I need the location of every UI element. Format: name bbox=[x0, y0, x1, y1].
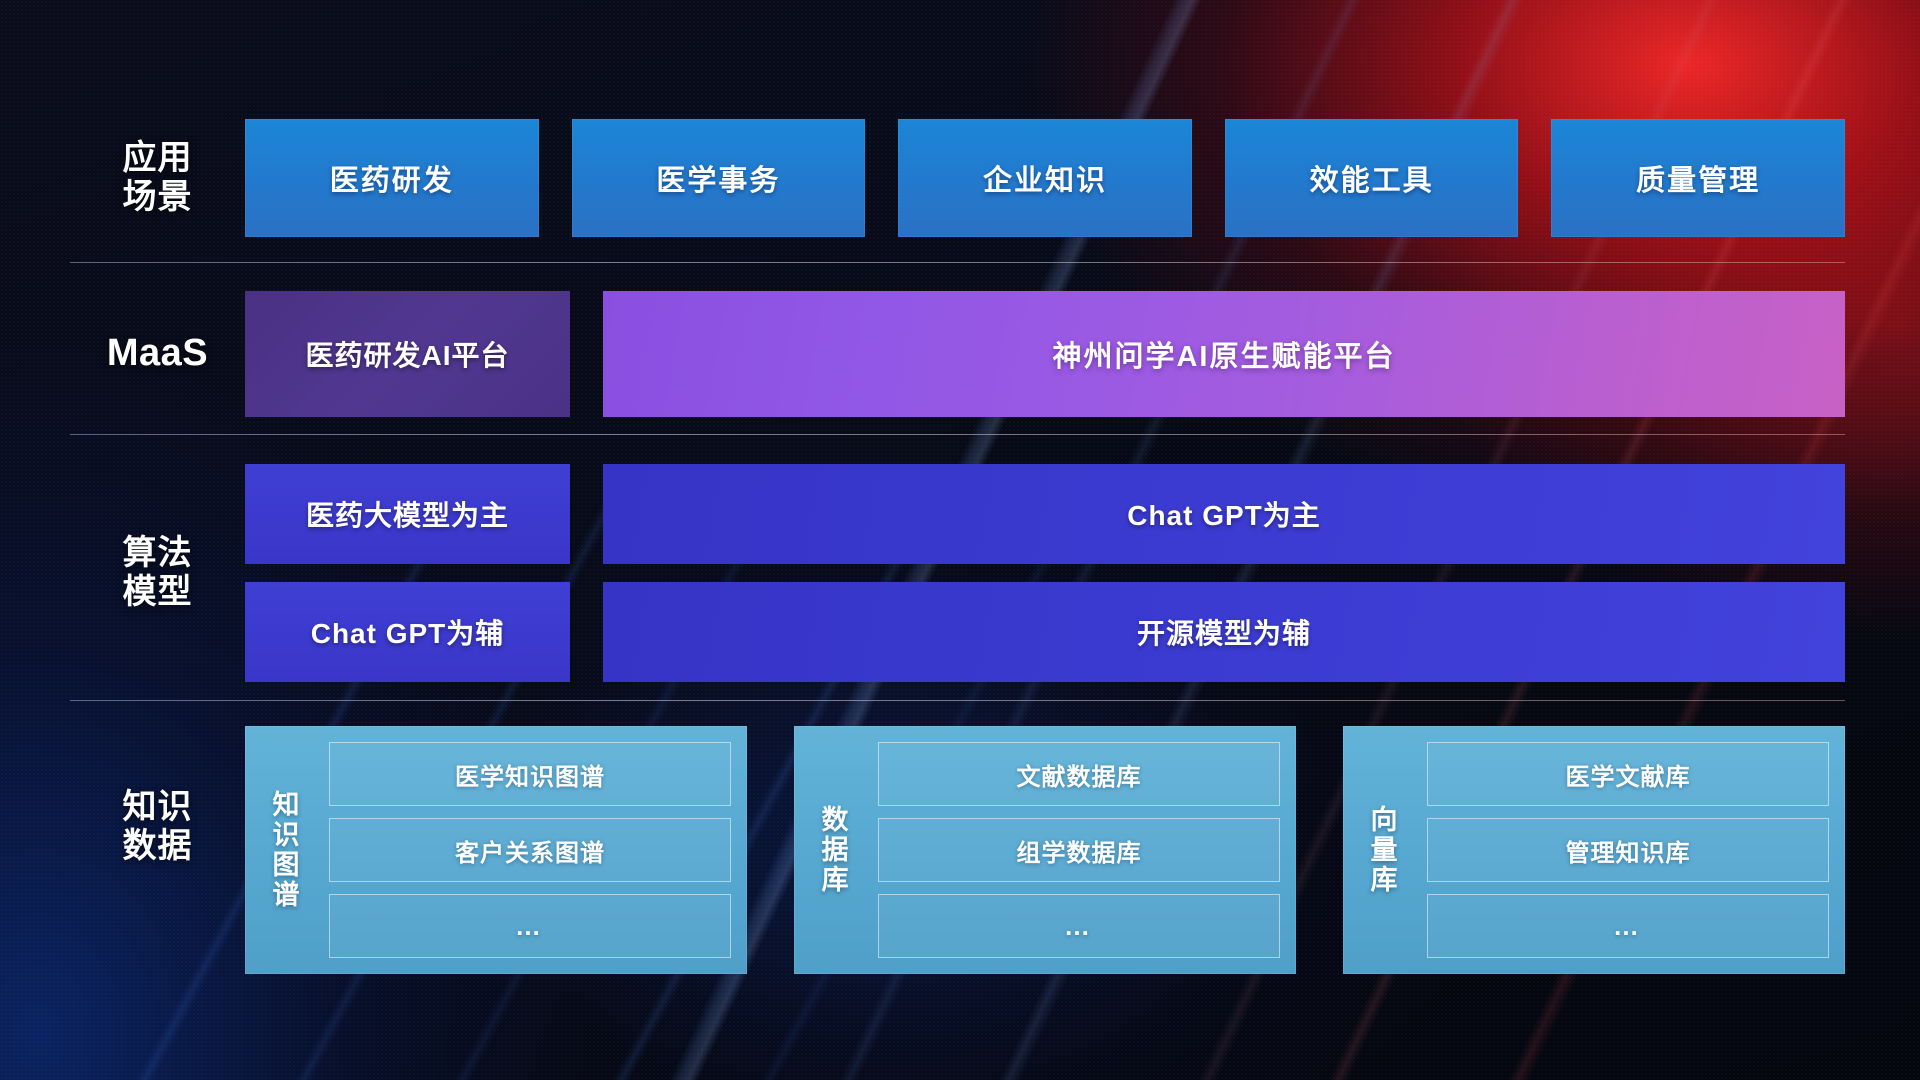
knowledge-item-management-knowledge-store[interactable]: 管理知识库 bbox=[1427, 818, 1829, 882]
row-label-maas: MaaS bbox=[70, 332, 245, 375]
knowledge-panel-database[interactable]: 数 据 库 文献数据库 组学数据库 … bbox=[794, 726, 1296, 974]
algo-box-chatgpt-secondary[interactable]: Chat GPT为辅 bbox=[245, 582, 570, 682]
algorithm-row-secondary: Chat GPT为辅 开源模型为辅 bbox=[245, 582, 1845, 682]
knowledge-panel-label-database: 数 据 库 bbox=[802, 742, 868, 958]
algorithm-model-boxes: 医药大模型为主 Chat GPT为主 Chat GPT为辅 开源模型为辅 bbox=[245, 464, 1845, 682]
knowledge-panel-knowledge-graph[interactable]: 知 识 图 谱 医学知识图谱 客户关系图谱 … bbox=[245, 726, 747, 974]
divider-algo-knowledge bbox=[70, 700, 1845, 701]
knowledge-item-more-database[interactable]: … bbox=[878, 894, 1280, 958]
knowledge-item-literature-database[interactable]: 文献数据库 bbox=[878, 742, 1280, 806]
knowledge-items-database: 文献数据库 组学数据库 … bbox=[868, 742, 1280, 958]
knowledge-item-customer-relation-graph[interactable]: 客户关系图谱 bbox=[329, 818, 731, 882]
row-label-application-scenarios: 应用 场景 bbox=[70, 139, 245, 217]
knowledge-item-medical-knowledge-graph[interactable]: 医学知识图谱 bbox=[329, 742, 731, 806]
row-algorithm-models: 算法 模型 医药大模型为主 Chat GPT为主 Chat GPT为辅 开源模型… bbox=[70, 462, 1845, 684]
app-box-medical-affairs[interactable]: 医学事务 bbox=[572, 119, 866, 237]
row-knowledge-data: 知识 数据 知 识 图 谱 医学知识图谱 客户关系图谱 … 数 据 库 文献数据… bbox=[70, 726, 1845, 976]
algo-box-opensource-model-secondary[interactable]: 开源模型为辅 bbox=[603, 582, 1845, 682]
maas-box-shenzhou-wenxue-platform[interactable]: 神州问学AI原生赋能平台 bbox=[603, 291, 1845, 417]
row-label-knowledge-data: 知识 数据 bbox=[70, 726, 245, 866]
knowledge-items-knowledge-graph: 医学知识图谱 客户关系图谱 … bbox=[319, 742, 731, 958]
app-box-medicine-rd[interactable]: 医药研发 bbox=[245, 119, 539, 237]
knowledge-items-vector-store: 医学文献库 管理知识库 … bbox=[1417, 742, 1829, 958]
app-box-efficiency-tools[interactable]: 效能工具 bbox=[1225, 119, 1519, 237]
knowledge-panels: 知 识 图 谱 医学知识图谱 客户关系图谱 … 数 据 库 文献数据库 组学数据… bbox=[245, 726, 1845, 974]
knowledge-item-medical-literature-store[interactable]: 医学文献库 bbox=[1427, 742, 1829, 806]
maas-boxes: 医药研发AI平台 神州问学AI原生赋能平台 bbox=[245, 291, 1845, 417]
row-maas: MaaS 医药研发AI平台 神州问学AI原生赋能平台 bbox=[70, 290, 1845, 418]
knowledge-panel-label-vector-store: 向 量 库 bbox=[1351, 742, 1417, 958]
diagram-rows: 应用 场景 医药研发 医学事务 企业知识 效能工具 质量管理 MaaS 医药研发… bbox=[0, 0, 1920, 1080]
knowledge-panel-label-knowledge-graph: 知 识 图 谱 bbox=[253, 742, 319, 958]
maas-box-medicine-rd-ai-platform[interactable]: 医药研发AI平台 bbox=[245, 291, 570, 417]
knowledge-panel-vector-store[interactable]: 向 量 库 医学文献库 管理知识库 … bbox=[1343, 726, 1845, 974]
row-application-scenarios: 应用 场景 医药研发 医学事务 企业知识 效能工具 质量管理 bbox=[70, 118, 1845, 238]
knowledge-item-omics-database[interactable]: 组学数据库 bbox=[878, 818, 1280, 882]
app-box-enterprise-knowledge[interactable]: 企业知识 bbox=[898, 119, 1192, 237]
knowledge-item-more-knowledge-graph[interactable]: … bbox=[329, 894, 731, 958]
architecture-diagram: 应用 场景 医药研发 医学事务 企业知识 效能工具 质量管理 MaaS 医药研发… bbox=[0, 0, 1920, 1080]
algo-box-chatgpt-primary[interactable]: Chat GPT为主 bbox=[603, 464, 1845, 564]
divider-maas-algo bbox=[70, 434, 1845, 435]
divider-apps-maas bbox=[70, 262, 1845, 263]
knowledge-item-more-vector-store[interactable]: … bbox=[1427, 894, 1829, 958]
application-scenario-boxes: 医药研发 医学事务 企业知识 效能工具 质量管理 bbox=[245, 119, 1845, 237]
algorithm-row-primary: 医药大模型为主 Chat GPT为主 bbox=[245, 464, 1845, 564]
algo-box-medicine-large-model-primary[interactable]: 医药大模型为主 bbox=[245, 464, 570, 564]
app-box-quality-management[interactable]: 质量管理 bbox=[1551, 119, 1845, 237]
row-label-algorithm-models: 算法 模型 bbox=[70, 534, 245, 612]
